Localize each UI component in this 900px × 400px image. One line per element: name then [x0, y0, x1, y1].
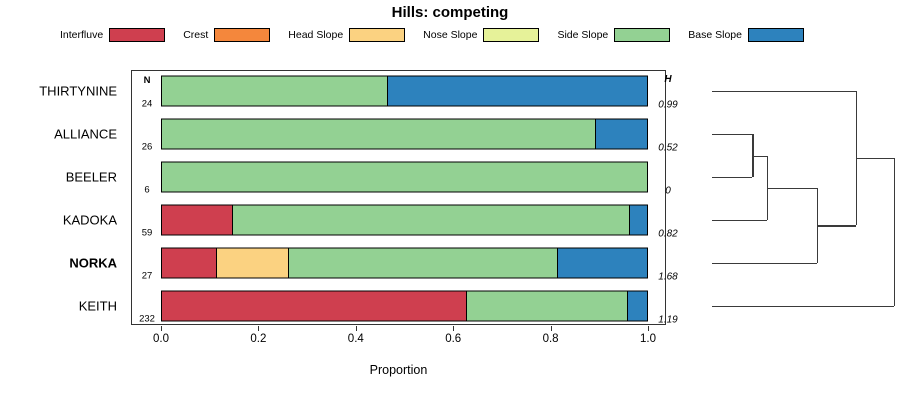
x-axis-tick-label: 0.6	[433, 333, 473, 345]
x-axis-tick	[551, 326, 552, 331]
dendrogram-leaf-keith	[712, 306, 894, 307]
dendrogram-node-root	[894, 158, 895, 306]
x-axis-tick-label: 1.0	[628, 333, 668, 345]
chart-root: Hills: competing InterfluveCrestHead Slo…	[0, 0, 900, 400]
dendrogram-branch	[752, 156, 767, 157]
x-axis-tick-label: 0.8	[531, 333, 571, 345]
dendrogram-branch	[767, 188, 817, 189]
x-axis-tick	[453, 326, 454, 331]
x-axis-tick	[356, 326, 357, 331]
dendrogram-leaf-beeler	[712, 177, 752, 178]
x-axis-label: Proportion	[131, 363, 666, 377]
dendrogram-leaf-thirtynine	[712, 91, 856, 92]
x-axis-tick	[648, 326, 649, 331]
x-axis-tick-label: 0.4	[336, 333, 376, 345]
dendrogram-leaf-kadoka	[712, 220, 767, 221]
x-axis-tick-label: 0.0	[141, 333, 181, 345]
dendrogram-leaf-norka	[712, 263, 817, 264]
x-axis-tick-label: 0.2	[238, 333, 278, 345]
dendrogram	[700, 70, 900, 325]
dendrogram-branch	[856, 158, 895, 159]
x-axis-tick	[161, 326, 162, 331]
x-axis-tick	[258, 326, 259, 331]
dendrogram-leaf-alliance	[712, 134, 752, 135]
dendrogram-branch	[817, 225, 856, 226]
